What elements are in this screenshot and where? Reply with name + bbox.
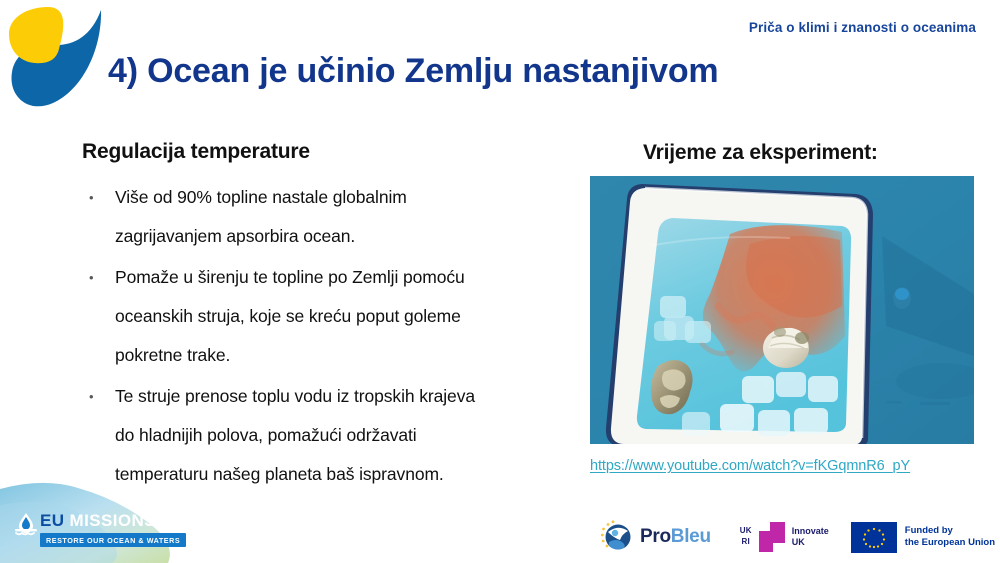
bullet-icon: • <box>82 258 115 375</box>
list-item-line: Te struje prenose toplu vodu iz tropskih… <box>115 377 572 416</box>
list-item: • Više od 90% topline nastale globalnim … <box>82 178 572 256</box>
list-item: • Te struje prenose toplu vodu iz tropsk… <box>82 377 572 494</box>
bullet-icon: • <box>82 377 115 494</box>
section-heading-experiment: Vrijeme za eksperiment: <box>643 141 878 165</box>
list-item-text: Više od 90% topline nastale globalnim za… <box>115 178 572 256</box>
list-item: • Pomaže u širenju te topline po Zemlji … <box>82 258 572 375</box>
eu-missions-missions: MISSIONS <box>70 511 156 530</box>
page-title: 4) Ocean je učinio Zemlju nastanjivom <box>108 52 718 91</box>
list-item-line: zagrijavanjem apsorbira ocean. <box>115 217 572 256</box>
list-item-line: Pomaže u širenju te topline po Zemlji po… <box>115 258 572 297</box>
youtube-video-link[interactable]: https://www.youtube.com/watch?v=fKGqmnR6… <box>590 458 910 474</box>
list-item-text: Te struje prenose toplu vodu iz tropskih… <box>115 377 572 494</box>
probleu-wordmark: ProBleu <box>640 526 711 548</box>
experiment-photo <box>590 176 974 444</box>
list-item-line: Više od 90% topline nastale globalnim <box>115 178 572 217</box>
eu-missions-logo-text: EU MISSIONS RESTORE OUR OCEAN & WATERS <box>40 512 200 548</box>
innovate-uk-text: Innovate UK <box>792 526 829 548</box>
probleu-globe-icon <box>600 520 634 554</box>
probleu-bleu: Bleu <box>671 526 711 547</box>
eu-missions-title: EU MISSIONS <box>40 512 200 529</box>
left-content-column: Regulacija temperature • Više od 90% top… <box>82 140 572 496</box>
eu-flag-icon <box>851 522 897 553</box>
header-kicker: Priča o klimi i znanosti o oceanima <box>749 20 976 35</box>
bullet-icon: • <box>82 178 115 256</box>
water-droplet-leaf-logo <box>6 4 106 108</box>
funded-by-line1: Funded by <box>905 525 995 537</box>
probleu-pro: Pro <box>640 526 671 547</box>
section-heading-regulation: Regulacija temperature <box>82 140 572 164</box>
innovate-uk-line2: UK <box>792 537 829 548</box>
funded-by-line2: the European Union <box>905 537 995 549</box>
probleu-logo: ProBleu <box>600 520 711 554</box>
innovate-uk-line1: Innovate <box>792 526 829 537</box>
list-item-line: do hladnijih polova, pomažući održavati <box>115 416 572 455</box>
funded-by-eu-text: Funded by the European Union <box>905 525 995 549</box>
list-item-text: Pomaže u širenju te topline po Zemlji po… <box>115 258 572 375</box>
list-item-line: oceanskih struja, koje se kreću poput go… <box>115 297 572 336</box>
funded-by-eu-logo: Funded by the European Union <box>851 522 995 553</box>
list-item-line: pokretne trake. <box>115 336 572 375</box>
innovate-uk-logo: UKRI Innovate UK <box>733 522 829 552</box>
eu-missions-eu: EU <box>40 511 64 530</box>
water-droplet-wave-icon <box>14 512 38 538</box>
ukri-mark: UKRI <box>733 522 785 552</box>
partner-logos: ProBleu UKRI Innovate UK <box>600 516 995 558</box>
ukri-letters: UKRI <box>734 525 758 549</box>
eu-missions-tagline: RESTORE OUR OCEAN & WATERS <box>40 533 186 547</box>
